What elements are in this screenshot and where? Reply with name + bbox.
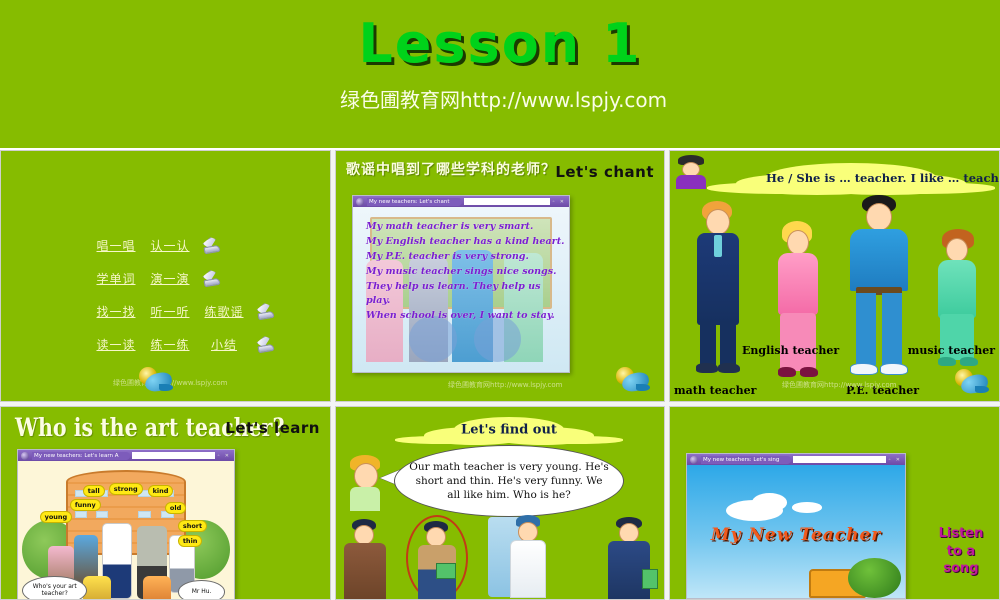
label-music-teacher: music teacher [908, 344, 995, 357]
player-title-fill [132, 452, 214, 459]
slide-learn[interactable]: Who is the art teacher? Let's learn My n… [0, 406, 331, 600]
menu-link-sing[interactable]: 唱一唱 [89, 237, 143, 254]
tag-word-thin: thin [178, 535, 203, 547]
speaker-icon[interactable] [255, 336, 277, 354]
chant-line: My math teacher is very smart. [366, 220, 565, 235]
speech-cloud: He / She is … teacher. I like … teacher. [766, 163, 936, 193]
chant-line: My English teacher has a kind heart. [366, 235, 565, 250]
person-1 [340, 519, 392, 599]
dolphin-mascot-icon [955, 369, 989, 395]
tag-word-young: young [40, 511, 73, 523]
figure-kid-yellow [83, 576, 111, 600]
sky-scene: My New Teacher [687, 465, 905, 598]
bubble-mr-hu: Mr Hu. [178, 580, 226, 600]
slide-song[interactable]: My new teachers: Let's sing ▫ ✕ My New T… [669, 406, 1000, 600]
player-title-fill [793, 456, 885, 463]
cloud-shape [752, 493, 787, 512]
player-title-bar: My new teachers: Let's chant ▫ ✕ [353, 196, 569, 207]
speaker-icon[interactable] [201, 237, 223, 255]
chant-question: 歌谣中唱到了哪些学科的老师？ [346, 159, 556, 179]
presentation-overview: Lesson 1 绿色圃教育网http://www.lspjy.com 唱一唱 … [0, 0, 1000, 600]
label-math-teacher: math teacher [674, 384, 756, 397]
chant-line: When school is over, I want to stay. [366, 309, 565, 324]
speaker-icon[interactable] [255, 303, 277, 321]
media-player-learn[interactable]: My new teachers: Let's learn A ▫ ✕ [17, 449, 235, 600]
menu-row: 学单词 演一演 [89, 262, 277, 295]
speech-cloud-text: He / She is … teacher. I like … teacher. [766, 171, 936, 185]
tag-word-funny: funny [70, 499, 101, 511]
lets-learn-label: Let's learn [225, 419, 320, 437]
window-controls[interactable]: ▫ ✕ [553, 199, 566, 205]
slide-teachers[interactable]: He / She is … teacher. I like … teacher.… [669, 150, 1000, 402]
menu-link-summary[interactable]: 小结 [197, 336, 251, 353]
media-player-chant[interactable]: My new teachers: Let's chant ▫ ✕ [352, 195, 570, 373]
dolphin-mascot-icon [139, 367, 173, 393]
player-video-area[interactable]: My New Teacher [687, 465, 905, 598]
person-math-teacher [688, 201, 750, 381]
media-player-icon [21, 452, 29, 460]
person-3 [488, 515, 550, 599]
speaker-icon[interactable] [201, 270, 223, 288]
chant-line: My music teacher sings nice songs. [366, 265, 565, 280]
person-pe-teacher [844, 195, 916, 383]
video-title: My New Teacher [704, 525, 887, 545]
menu-row: 读一读 练一练 小结 [89, 328, 277, 361]
findout-speech-bubble: Our math teacher is very young. He's sho… [394, 445, 624, 517]
tree [848, 558, 900, 598]
menu-link-listen[interactable]: 听一听 [143, 303, 197, 320]
tag-word-short: short [178, 520, 207, 532]
media-player-icon [690, 456, 698, 464]
tag-word-kind: kind [148, 485, 174, 497]
media-player-icon [356, 198, 364, 206]
person-english-teacher [770, 221, 828, 381]
player-video-area[interactable]: tall strong kind funny old young short t… [18, 461, 234, 600]
slide-findout[interactable]: Let's find out Our math teacher is very … [335, 406, 665, 600]
person-2-circled [412, 519, 464, 599]
listen-to-a-song-label: Listen to a song [935, 525, 987, 578]
slide-grid: 唱一唱 认一认 学单词 演一演 找一找 听一听 练歌谣 读一读 [0, 150, 1000, 600]
chant-scene: My math teacher is very smart. My Englis… [353, 207, 569, 372]
slide-chant[interactable]: 歌谣中唱到了哪些学科的老师？ Let's chant My new teache… [335, 150, 665, 402]
player-title-fill [464, 198, 550, 205]
chant-text: My math teacher is very smart. My Englis… [366, 220, 565, 324]
menu-row: 唱一唱 认一认 [89, 229, 277, 262]
player-title: My new teachers: Let's chant [367, 198, 462, 206]
watermark: 绿色圃教育网http://www.lspjy.com [782, 381, 897, 389]
player-title: My new teachers: Let's learn A [32, 452, 130, 460]
lets-find-out-label: Let's find out [454, 423, 564, 438]
dolphin-mascot-icon [616, 367, 650, 393]
cloud-shape [792, 502, 823, 513]
student-avatar [674, 155, 708, 189]
tag-word-old: old [165, 502, 186, 514]
menu-link-recognize[interactable]: 认一认 [143, 237, 197, 254]
window-controls[interactable]: ▫ ✕ [889, 457, 902, 463]
player-title: My new teachers: Let's sing [701, 456, 791, 464]
chant-line: They help us learn. They help us play. [366, 280, 565, 310]
menu-link-list: 唱一唱 认一认 学单词 演一演 找一找 听一听 练歌谣 读一读 [89, 229, 277, 361]
menu-row: 找一找 听一听 练歌谣 [89, 295, 277, 328]
player-title-bar: My new teachers: Let's sing ▫ ✕ [687, 454, 905, 465]
school-scene: tall strong kind funny old young short t… [18, 461, 234, 600]
player-title-bar: My new teachers: Let's learn A ▫ ✕ [18, 450, 234, 461]
bubble-who-is-art-teacher: Who's your art teacher? [22, 576, 87, 600]
watermark: 绿色圃教育网http://www.lspjy.com [448, 381, 563, 389]
tag-word-strong: strong [109, 483, 143, 495]
slide-menu[interactable]: 唱一唱 认一认 学单词 演一演 找一找 听一听 练歌谣 读一读 [0, 150, 331, 402]
page-title: Lesson 1 [0, 16, 1000, 73]
findout-bubble-text: Our math teacher is very young. He's sho… [395, 460, 623, 503]
menu-link-find[interactable]: 找一找 [89, 303, 143, 320]
menu-link-read[interactable]: 读一读 [89, 336, 143, 353]
menu-link-act[interactable]: 演一演 [143, 270, 197, 287]
menu-link-chant-practice[interactable]: 练歌谣 [197, 303, 251, 320]
person-music-teacher [932, 229, 986, 381]
window-controls[interactable]: ▫ ✕ [218, 453, 231, 459]
menu-link-practice[interactable]: 练一练 [143, 336, 197, 353]
label-english-teacher: English teacher [742, 344, 839, 357]
findout-banner-cloud: Let's find out [454, 417, 564, 443]
menu-link-words[interactable]: 学单词 [89, 270, 143, 287]
site-watermark-heading: 绿色圃教育网http://www.lspjy.com [340, 88, 670, 113]
media-player-song[interactable]: My new teachers: Let's sing ▫ ✕ My New T… [686, 453, 906, 599]
player-video-area[interactable]: My math teacher is very smart. My Englis… [353, 207, 569, 372]
lets-chant-label: Let's chant [555, 163, 654, 181]
tag-word-tall: tall [83, 485, 105, 497]
figure-kid-orange [143, 576, 171, 600]
title-banner: Lesson 1 绿色圃教育网http://www.lspjy.com [0, 0, 1000, 148]
chant-line: My P.E. teacher is very strong. [366, 250, 565, 265]
person-4 [604, 517, 658, 599]
